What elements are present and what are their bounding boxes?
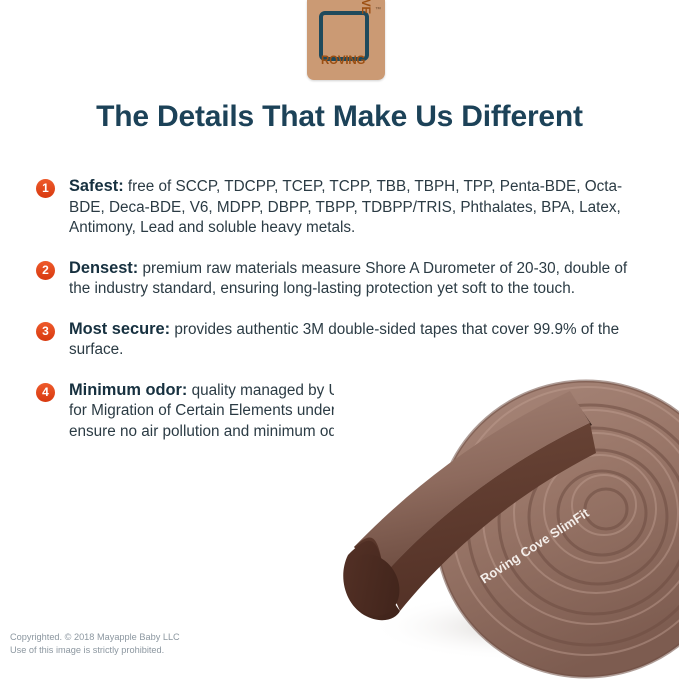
feature-list: 1 Safest: free of SCCP, TDCPP, TCEP, TCP… [36,176,636,461]
list-item-lead: Minimum odor: [69,381,187,399]
list-item: 1 Safest: free of SCCP, TDCPP, TCEP, TCP… [36,176,636,239]
copyright-line-1: Copyrighted. © 2018 Mayapple Baby LLC [10,631,180,644]
list-item-lead: Most secure: [69,320,170,338]
list-item-lead: Densest: [69,259,138,277]
list-item-body: Densest: premium raw materials measure S… [69,258,636,300]
list-number-badge: 3 [36,322,55,341]
copyright-line-2: Use of this image is strictly prohibited… [10,644,180,657]
list-item-body: Minimum odor: quality managed by US comp… [69,380,636,443]
list-item-body: Safest: free of SCCP, TDCPP, TCEP, TCPP,… [69,176,636,239]
list-number-badge: 1 [36,179,55,198]
list-item: 2 Densest: premium raw materials measure… [36,258,636,300]
list-item-text: premium raw materials measure Shore A Du… [69,260,627,298]
list-item-body: Most secure: provides authentic 3M doubl… [69,319,636,361]
list-item: 4 Minimum odor: quality managed by US co… [36,380,636,443]
logo-frame [319,11,369,61]
logo-text-cove: COVE [359,0,371,14]
product-name-print: Roving Cove SlimFit [477,505,592,587]
list-item-lead: Safest: [69,177,124,195]
list-number-badge: 2 [36,261,55,280]
trademark-symbol: ™ [375,7,381,13]
copyright-notice: Copyrighted. © 2018 Mayapple Baby LLC Us… [10,631,180,656]
list-item-text: free of SCCP, TDCPP, TCEP, TCPP, TBB, TB… [69,178,622,236]
logo-text-roving: ROVING [321,56,365,68]
list-number-badge: 4 [36,383,55,402]
promo-image: ROVING COVE ™ The Details That Make Us D… [0,0,679,679]
list-item: 3 Most secure: provides authentic 3M dou… [36,319,636,361]
page-title: The Details That Make Us Different [0,100,679,134]
brand-logo: ROVING COVE ™ [307,0,385,80]
